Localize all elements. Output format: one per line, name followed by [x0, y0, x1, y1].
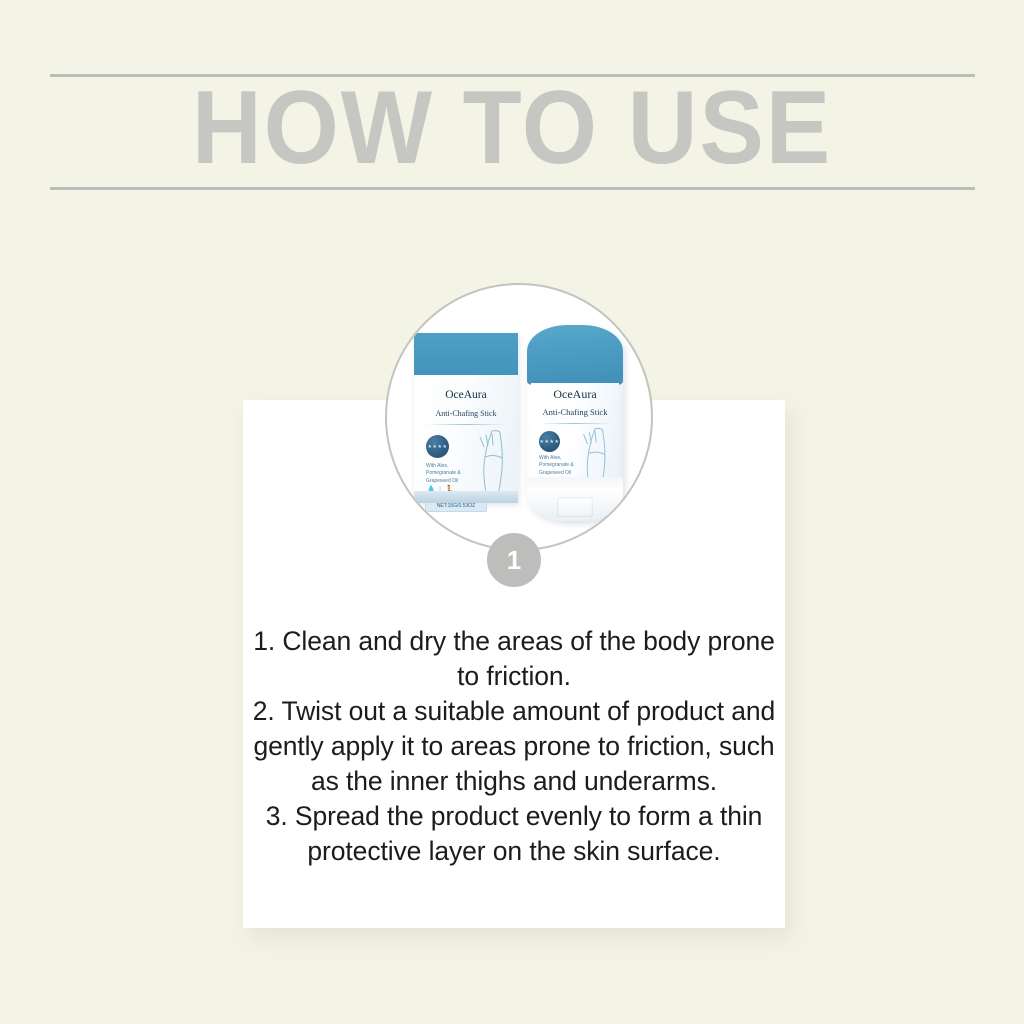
carton-cap-band — [414, 333, 518, 375]
carton-ingredients: With Aloe, Pomegranate & Grapeseed Oil — [426, 463, 474, 485]
carton-product-name: Anti-Chafing Stick — [414, 409, 518, 418]
carton-label: OceAura Anti-Chafing Stick ★★★★ With Alo… — [414, 375, 518, 491]
carton-foot-band — [414, 491, 518, 503]
page-title: HOW TO USE — [36, 76, 988, 180]
stick-quality-seal-icon: ★★★★ — [539, 431, 560, 452]
instruction-step-3: 3. Spread the product evenly to form a t… — [251, 799, 777, 869]
carton-divider — [426, 424, 506, 425]
stick-divider — [539, 423, 611, 424]
stick-twist-knob — [557, 497, 593, 517]
instruction-step-2: 2. Twist out a suitable amount of produc… — [251, 694, 777, 799]
instructions-list: 1. Clean and dry the areas of the body p… — [251, 624, 777, 869]
header-rule-bottom — [50, 187, 975, 190]
page-header: HOW TO USE — [0, 0, 1024, 210]
product-scene: OceAura Anti-Chafing Stick ★★★★ With Alo… — [387, 285, 653, 551]
stick-brand-text: OceAura — [531, 387, 619, 402]
seal-stars: ★★★★ — [426, 435, 449, 458]
instruction-step-1: 1. Clean and dry the areas of the body p… — [251, 624, 777, 694]
product-image-circle: OceAura Anti-Chafing Stick ★★★★ With Alo… — [385, 283, 653, 551]
stick-product-name: Anti-Chafing Stick — [531, 407, 619, 417]
product-carton: OceAura Anti-Chafing Stick ★★★★ With Alo… — [414, 333, 518, 503]
quality-seal-icon: ★★★★ — [426, 435, 449, 458]
step-number-badge: 1 — [487, 533, 541, 587]
stick-seal-stars: ★★★★ — [539, 431, 560, 452]
stick-label: OceAura Anti-Chafing Stick ★★★★ With Alo… — [531, 383, 619, 483]
carton-brand-text: OceAura — [414, 389, 518, 401]
product-stick: OceAura Anti-Chafing Stick ★★★★ With Alo… — [527, 325, 623, 521]
stick-cap — [527, 325, 623, 385]
stick-base — [527, 477, 623, 521]
